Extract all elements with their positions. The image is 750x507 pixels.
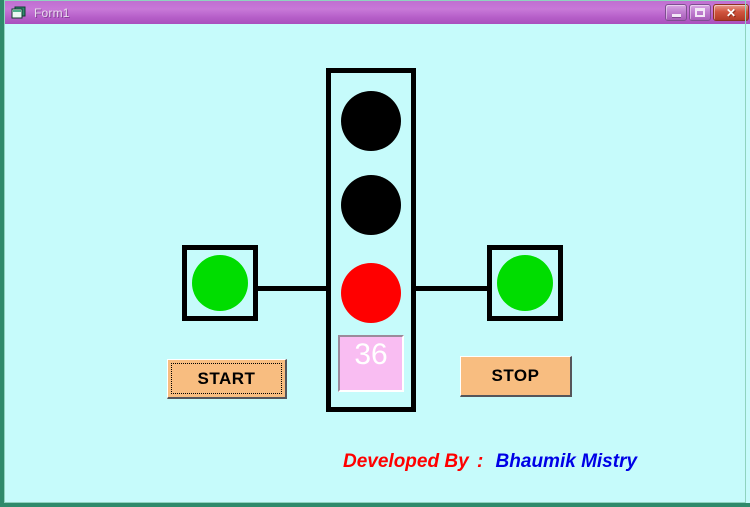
start-button[interactable]: START bbox=[167, 359, 287, 399]
stop-button-label: STOP bbox=[492, 366, 540, 386]
developer-credit: Developed By : Bhaumik Mistry bbox=[343, 451, 637, 473]
developer-name: Bhaumik Mistry bbox=[496, 451, 637, 472]
minimize-icon bbox=[672, 14, 681, 17]
minimize-button[interactable] bbox=[665, 4, 687, 21]
signal-lamp-yellow bbox=[341, 175, 401, 235]
stop-button[interactable]: STOP bbox=[460, 356, 572, 397]
maximize-icon bbox=[695, 8, 705, 17]
maximize-button[interactable] bbox=[689, 4, 711, 21]
countdown-display: 36 bbox=[338, 335, 404, 392]
title-bar[interactable]: Form1 ✕ bbox=[4, 0, 750, 24]
window-controls: ✕ bbox=[665, 4, 749, 21]
form-window-icon bbox=[11, 6, 27, 20]
close-icon: ✕ bbox=[726, 7, 736, 19]
countdown-value: 36 bbox=[354, 339, 387, 371]
credit-label: Developed By bbox=[343, 451, 469, 472]
window-title: Form1 bbox=[34, 6, 70, 20]
credit-separator: : bbox=[477, 451, 483, 472]
application-window: Form1 ✕ bbox=[0, 0, 750, 507]
signal-lamp-red bbox=[341, 91, 401, 151]
right-pedestrian-lamp bbox=[497, 255, 553, 311]
form-client-area: 36 START STOP Developed By : Bhaumik Mis… bbox=[8, 24, 750, 503]
traffic-signal-post: 36 bbox=[326, 68, 416, 412]
start-button-label: START bbox=[198, 369, 256, 389]
left-pedestrian-lamp bbox=[192, 255, 248, 311]
signal-lamp-green bbox=[341, 263, 401, 323]
left-pedestrian-light[interactable] bbox=[182, 245, 258, 321]
right-pedestrian-light[interactable] bbox=[487, 245, 563, 321]
connector-bar-right bbox=[412, 286, 490, 291]
close-button[interactable]: ✕ bbox=[713, 4, 749, 21]
connector-bar-left bbox=[256, 286, 332, 291]
